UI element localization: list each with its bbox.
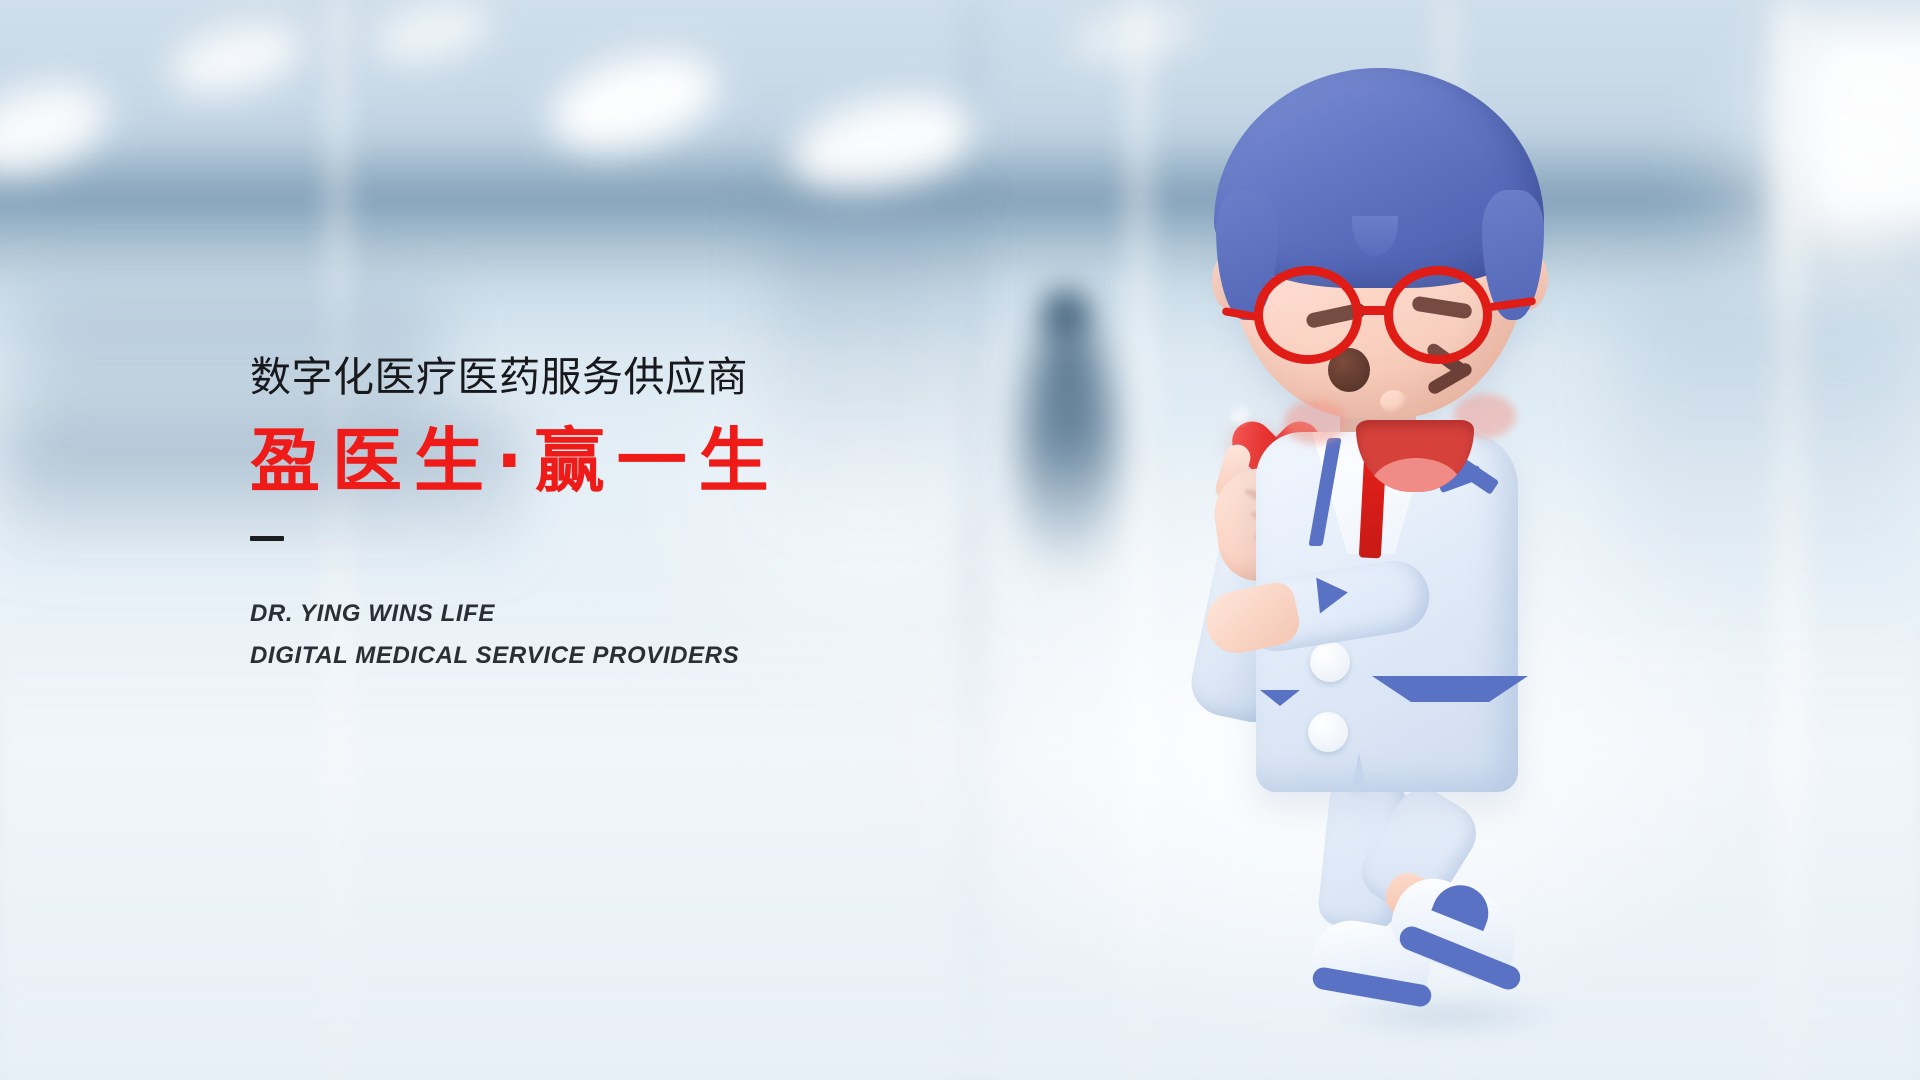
mascot-cuff-accent xyxy=(1316,575,1350,614)
doctor-mascot-illustration xyxy=(1200,40,1680,1060)
mascot-coat-side-tab xyxy=(1260,690,1300,706)
mascot-coat-pocket-flap xyxy=(1372,676,1528,702)
glasses-lens-right xyxy=(1384,266,1492,364)
subtitle-block: DR. YING WINS LIFE DIGITAL MEDICAL SERVI… xyxy=(250,593,1010,676)
headline-text: 盈医生·赢一生 xyxy=(250,422,1010,500)
glasses-temple-right xyxy=(1488,297,1537,312)
divider-rule xyxy=(250,536,284,541)
glasses-bridge xyxy=(1360,306,1390,315)
background-person-head xyxy=(1042,288,1090,340)
mascot-cheek-blush-left xyxy=(1284,400,1346,444)
subtitle-line-1: DR. YING WINS LIFE xyxy=(250,593,1010,634)
glasses-temple-left xyxy=(1222,307,1259,321)
hero-banner: 数字化医疗医药服务供应商 盈医生·赢一生 DR. YING WINS LIFE … xyxy=(0,0,1920,1080)
glasses-icon xyxy=(1234,254,1530,364)
mascot-mouth xyxy=(1356,420,1474,492)
mascot-ground-shadow xyxy=(1320,992,1570,1038)
hero-copy-block: 数字化医疗医药服务供应商 盈医生·赢一生 DR. YING WINS LIFE … xyxy=(250,355,1010,676)
mascot-coat-button xyxy=(1310,642,1350,682)
kicker-text: 数字化医疗医药服务供应商 xyxy=(250,355,1010,400)
glasses-lens-left xyxy=(1254,266,1362,364)
subtitle-line-2: DIGITAL MEDICAL SERVICE PROVIDERS xyxy=(250,635,1010,676)
mascot-nose xyxy=(1380,390,1408,414)
mascot-tongue xyxy=(1370,458,1462,492)
mascot-coat-button xyxy=(1308,712,1348,752)
